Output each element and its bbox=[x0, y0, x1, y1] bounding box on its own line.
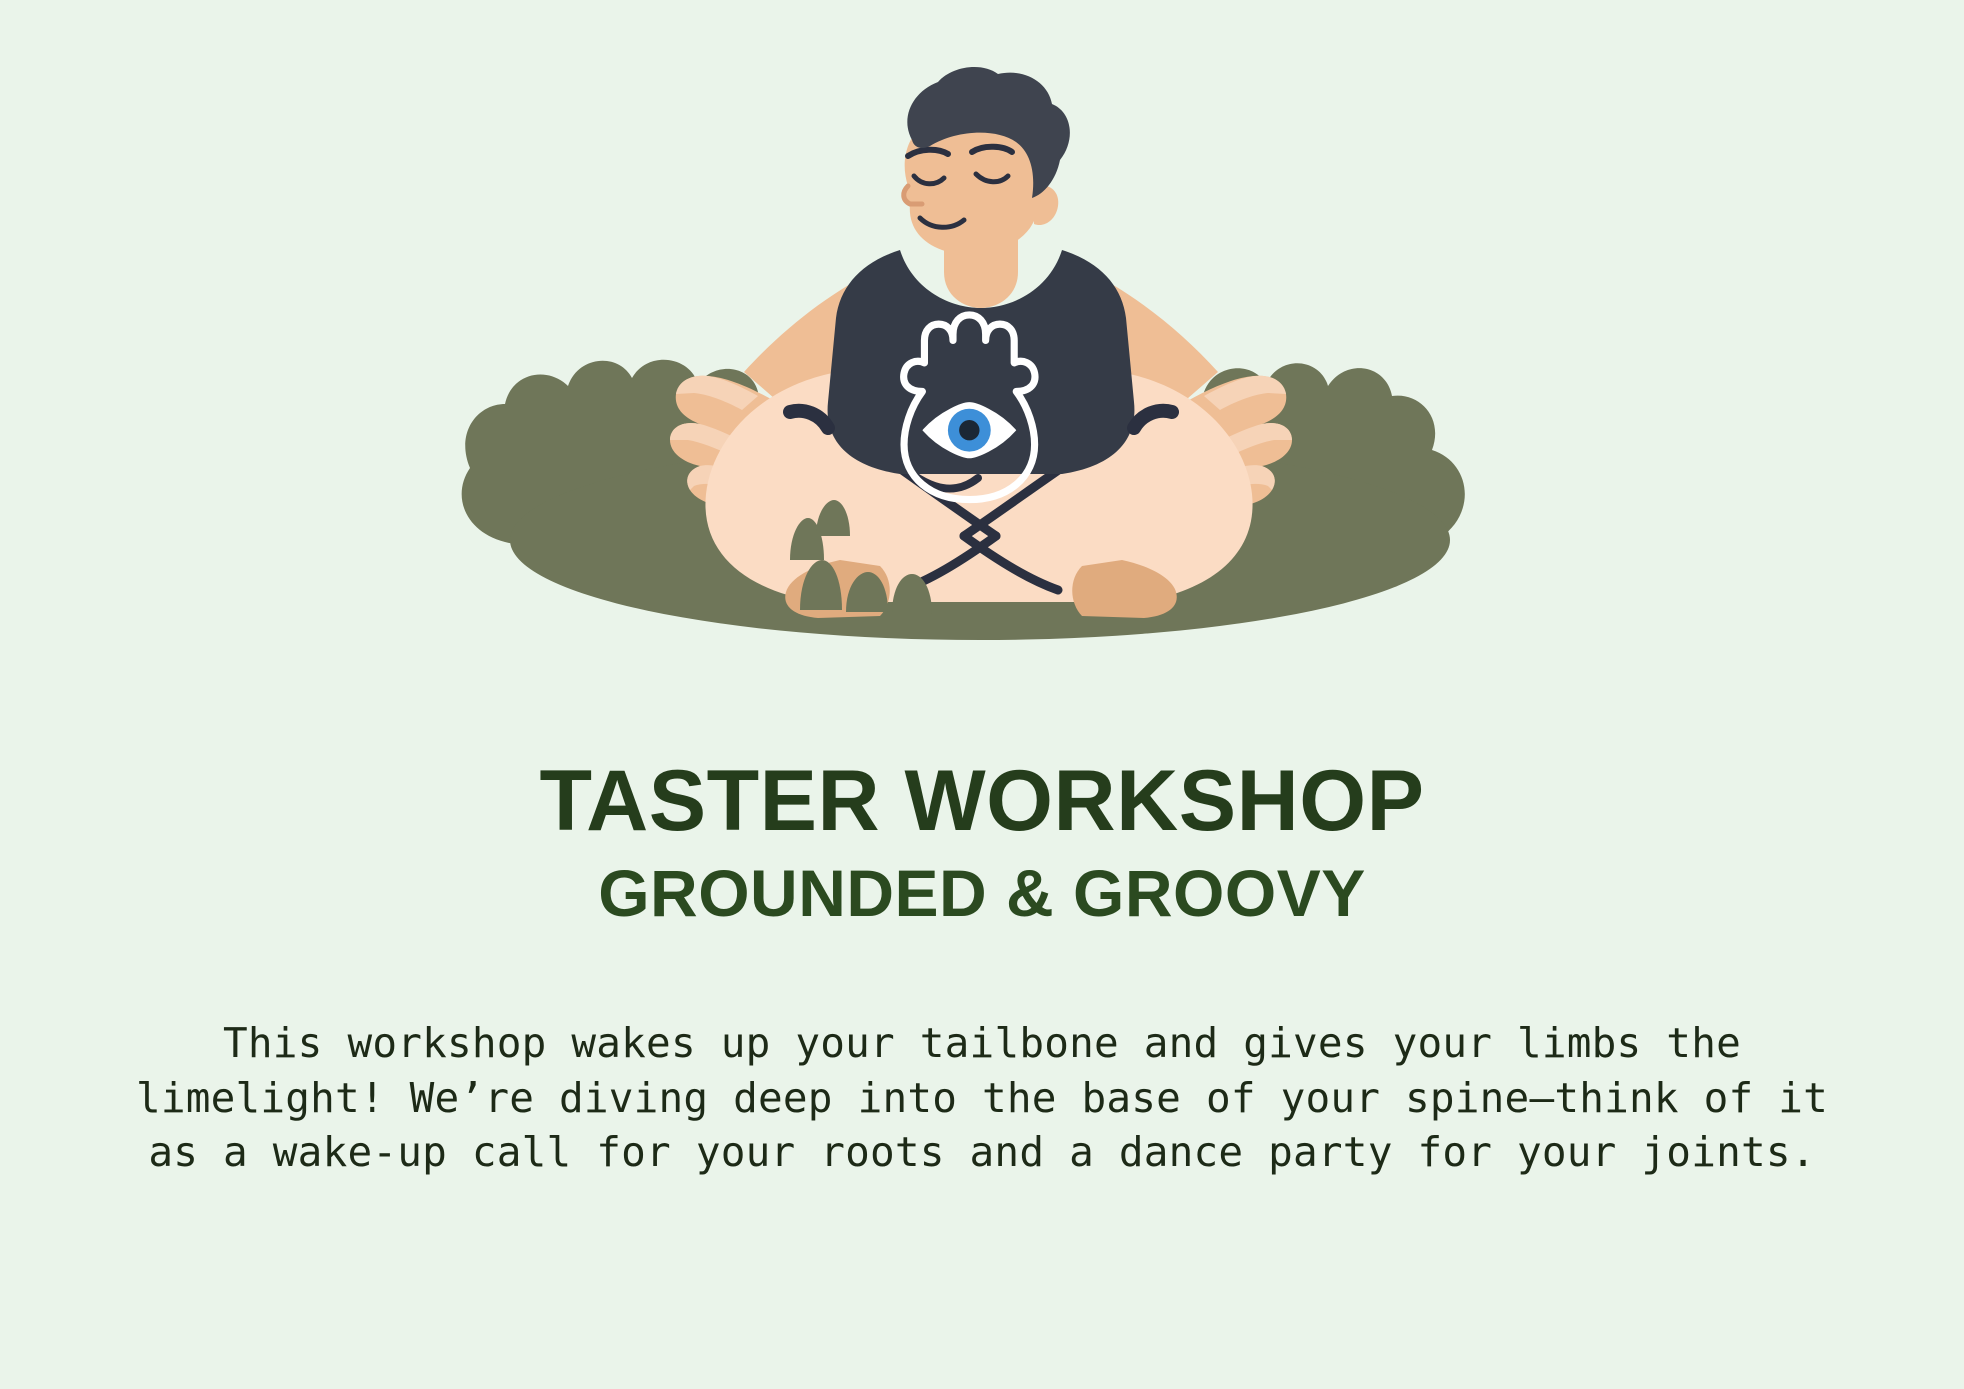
meditating-person-illustration bbox=[0, 0, 1964, 720]
head bbox=[904, 67, 1070, 255]
workshop-description: This workshop wakes up your tailbone and… bbox=[117, 1016, 1847, 1180]
illustration-svg bbox=[0, 0, 1964, 720]
poster-canvas: TASTER WORKSHOP GROUNDED & GROOVY This w… bbox=[0, 0, 1964, 1389]
page-title: TASTER WORKSHOP bbox=[0, 758, 1964, 844]
page-subtitle: GROUNDED & GROOVY bbox=[0, 860, 1964, 926]
heading-block: TASTER WORKSHOP GROUNDED & GROOVY bbox=[0, 758, 1964, 926]
